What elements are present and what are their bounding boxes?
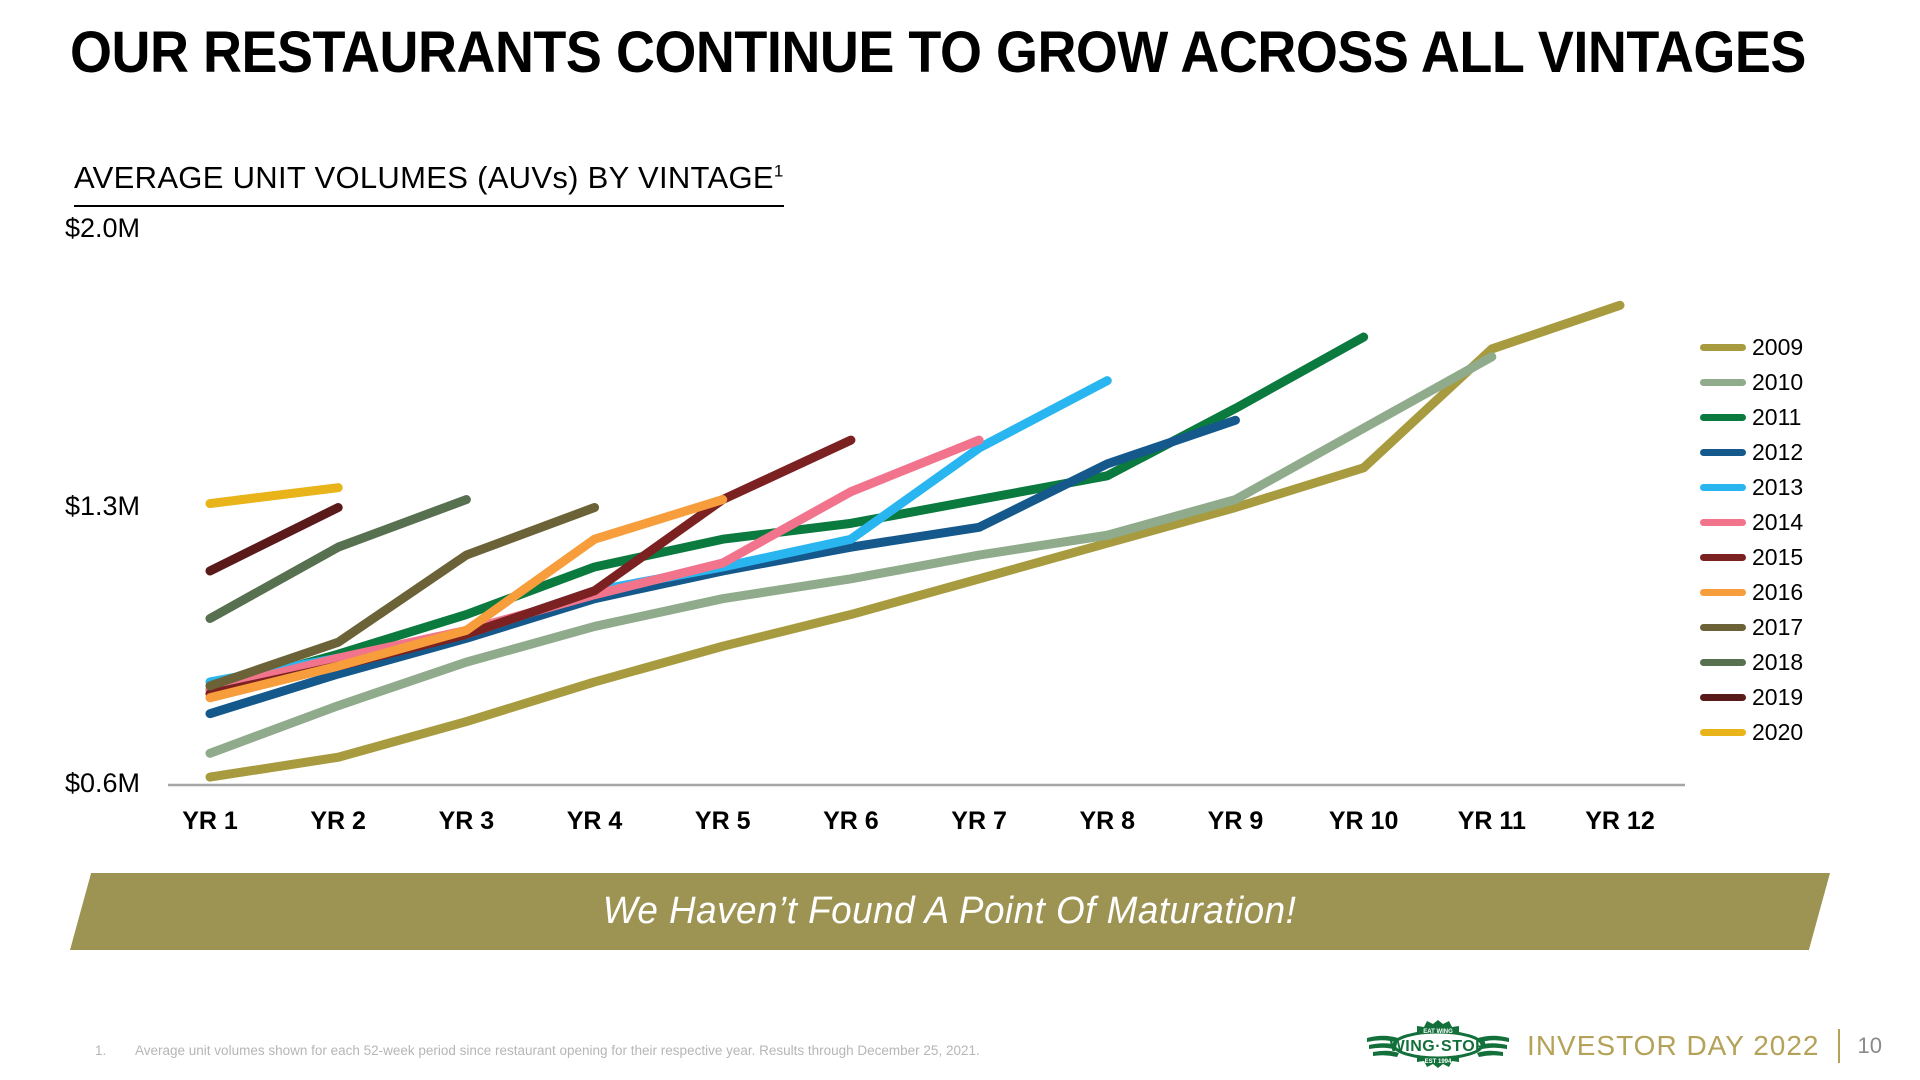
legend-item-2013[interactable]: 2013 [1700, 470, 1890, 505]
legend-item-2017[interactable]: 2017 [1700, 610, 1890, 645]
footer-brand: WING·STOP EAT WING EST 1994 INVESTOR DAY… [1363, 1018, 1882, 1074]
legend-item-label: 2019 [1752, 686, 1803, 709]
chart-subtitle-text: AVERAGE UNIT VOLUMES (AUVs) BY VINTAGE [74, 160, 774, 195]
series-line-2018 [210, 500, 466, 619]
legend-item-2012[interactable]: 2012 [1700, 435, 1890, 470]
legend-item-label: 2017 [1752, 616, 1803, 639]
x-axis-tick-label: YR 8 [1047, 807, 1167, 836]
x-axis-tick-label: YR 10 [1304, 807, 1424, 836]
legend-item-2018[interactable]: 2018 [1700, 645, 1890, 680]
legend-item-2009[interactable]: 2009 [1700, 330, 1890, 365]
x-axis-tick-label: YR 1 [150, 807, 270, 836]
footnote-text: Average unit volumes shown for each 52-w… [135, 1043, 980, 1058]
x-axis-tick-label: YR 3 [406, 807, 526, 836]
legend-item-2019[interactable]: 2019 [1700, 680, 1890, 715]
legend-item-2015[interactable]: 2015 [1700, 540, 1890, 575]
investor-day-label: INVESTOR DAY 2022 [1527, 1030, 1819, 1062]
legend-swatch-icon [1700, 729, 1746, 736]
chart-series-group [210, 305, 1620, 777]
legend-swatch-icon [1700, 589, 1746, 596]
chart-container: $2.0M$1.3M$0.6M YR 1YR 2YR 3YR 4YR 5YR 6… [0, 200, 1920, 840]
y-axis-tick-label: $1.3M [20, 491, 140, 522]
series-line-2020 [210, 488, 338, 504]
chart-legend: 2009201020112012201320142015201620172018… [1700, 330, 1890, 750]
legend-swatch-icon [1700, 414, 1746, 421]
legend-item-label: 2010 [1752, 371, 1803, 394]
x-axis-tick-label: YR 7 [919, 807, 1039, 836]
legend-item-2011[interactable]: 2011 [1700, 400, 1890, 435]
callout-banner-text: We Haven’t Found A Point Of Maturation! [603, 890, 1297, 933]
x-axis-tick-label: YR 9 [1175, 807, 1295, 836]
legend-item-label: 2014 [1752, 511, 1803, 534]
page-number: 10 [1858, 1033, 1882, 1059]
callout-banner: We Haven’t Found A Point Of Maturation! [70, 873, 1830, 950]
y-axis-tick-label: $0.6M [20, 768, 140, 799]
legend-item-label: 2012 [1752, 441, 1803, 464]
x-axis-tick-label: YR 5 [663, 807, 783, 836]
page-title: OUR RESTAURANTS CONTINUE TO GROW ACROSS … [70, 20, 1744, 86]
legend-item-label: 2018 [1752, 651, 1803, 674]
svg-text:EAT WING: EAT WING [1423, 1029, 1453, 1035]
legend-item-label: 2009 [1752, 336, 1803, 359]
legend-item-label: 2011 [1752, 406, 1801, 429]
legend-swatch-icon [1700, 449, 1746, 456]
legend-swatch-icon [1700, 484, 1746, 491]
legend-swatch-icon [1700, 694, 1746, 701]
x-axis-tick-label: YR 2 [278, 807, 398, 836]
legend-item-label: 2013 [1752, 476, 1803, 499]
legend-swatch-icon [1700, 519, 1746, 526]
legend-item-label: 2015 [1752, 546, 1803, 569]
svg-text:WING·STOP: WING·STOP [1390, 1038, 1487, 1055]
footnote-number: 1. [95, 1043, 135, 1058]
legend-item-2010[interactable]: 2010 [1700, 365, 1890, 400]
x-axis-tick-label: YR 4 [535, 807, 655, 836]
y-axis-tick-label: $2.0M [20, 213, 140, 244]
legend-swatch-icon [1700, 659, 1746, 666]
legend-swatch-icon [1700, 344, 1746, 351]
footnote: 1. Average unit volumes shown for each 5… [95, 1043, 980, 1058]
legend-item-2020[interactable]: 2020 [1700, 715, 1890, 750]
legend-item-2014[interactable]: 2014 [1700, 505, 1890, 540]
x-axis-tick-label: YR 12 [1560, 807, 1680, 836]
legend-item-label: 2020 [1752, 721, 1803, 744]
series-line-2010 [210, 357, 1492, 753]
x-axis-tick-label: YR 6 [791, 807, 911, 836]
legend-swatch-icon [1700, 554, 1746, 561]
line-chart [0, 200, 1920, 840]
legend-item-2016[interactable]: 2016 [1700, 575, 1890, 610]
chart-subtitle-footnote-marker: 1 [774, 162, 784, 181]
footer-divider [1838, 1029, 1840, 1063]
x-axis-tick-label: YR 11 [1432, 807, 1552, 836]
legend-item-label: 2016 [1752, 581, 1803, 604]
svg-text:EST 1994: EST 1994 [1425, 1059, 1452, 1065]
legend-swatch-icon [1700, 379, 1746, 386]
wingstop-logo-icon: WING·STOP EAT WING EST 1994 [1363, 1018, 1513, 1075]
legend-swatch-icon [1700, 624, 1746, 631]
